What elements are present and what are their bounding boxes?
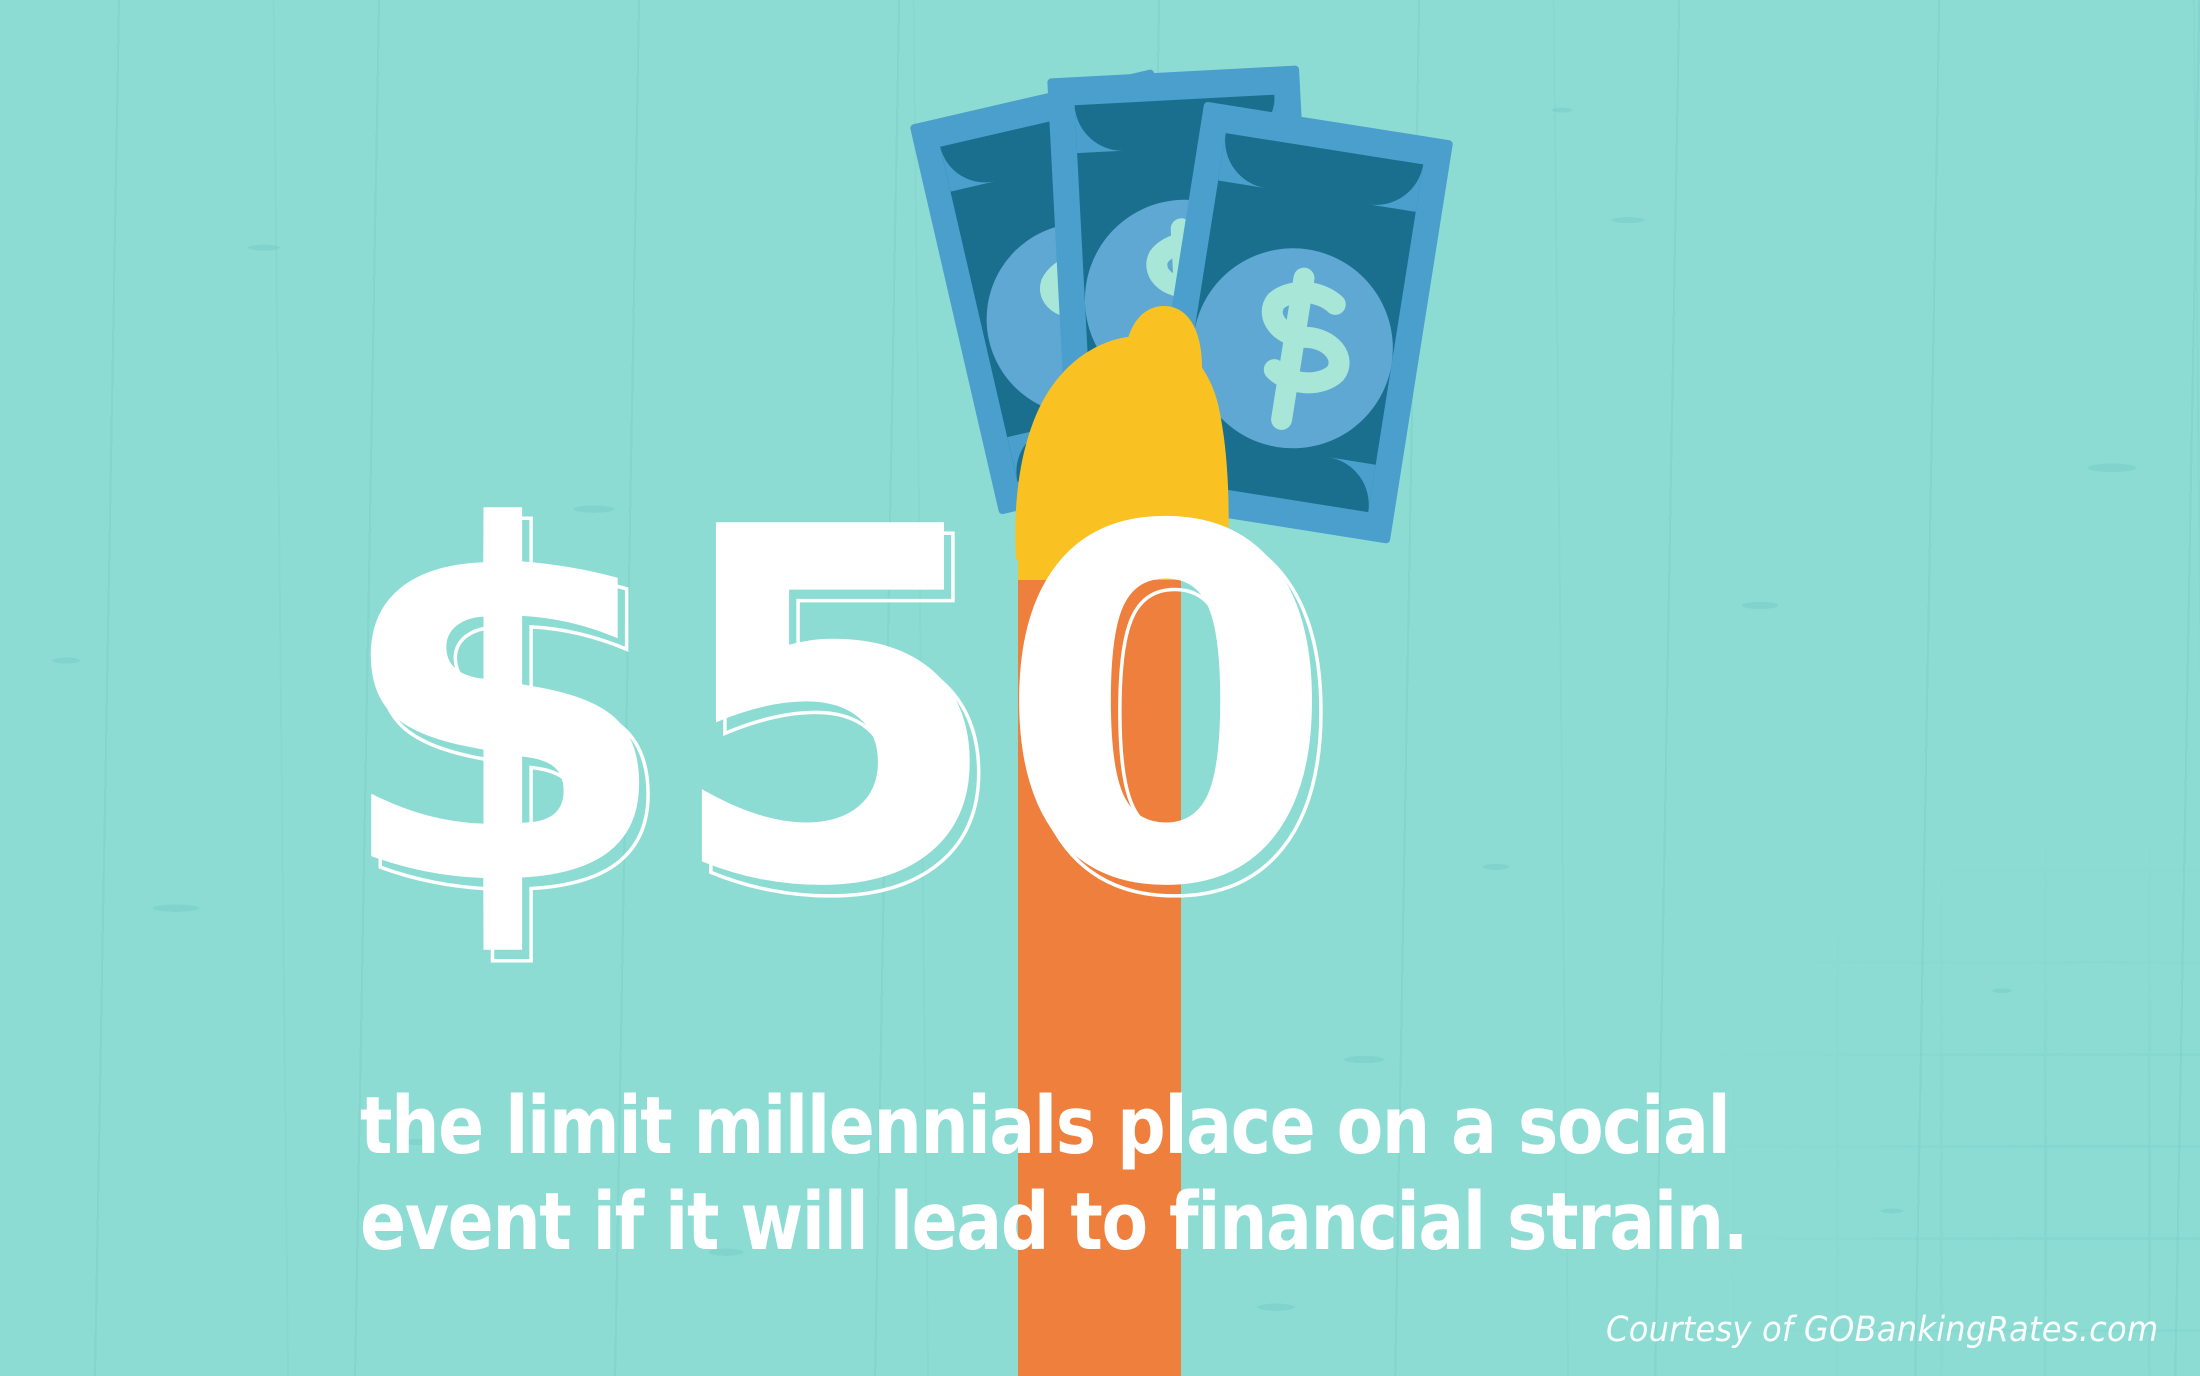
- infographic-poster: $50 $50 the limit millennials place on a…: [0, 0, 2200, 1376]
- background-crosshatch: [1680, 816, 2200, 1376]
- caption-line-1: the limit millennials place on a social: [360, 1078, 1667, 1174]
- headline-amount: $50 $50: [333, 486, 1328, 935]
- headline-amount-container: $50 $50: [0, 486, 1660, 935]
- credit-attribution: Courtesy of GOBankingRates.com: [1606, 1310, 2158, 1350]
- caption-line-2: event if it will lead to financial strai…: [360, 1174, 1667, 1270]
- caption: the limit millennials place on a social …: [360, 1078, 1667, 1271]
- headline-amount-fill: $50: [333, 426, 1328, 994]
